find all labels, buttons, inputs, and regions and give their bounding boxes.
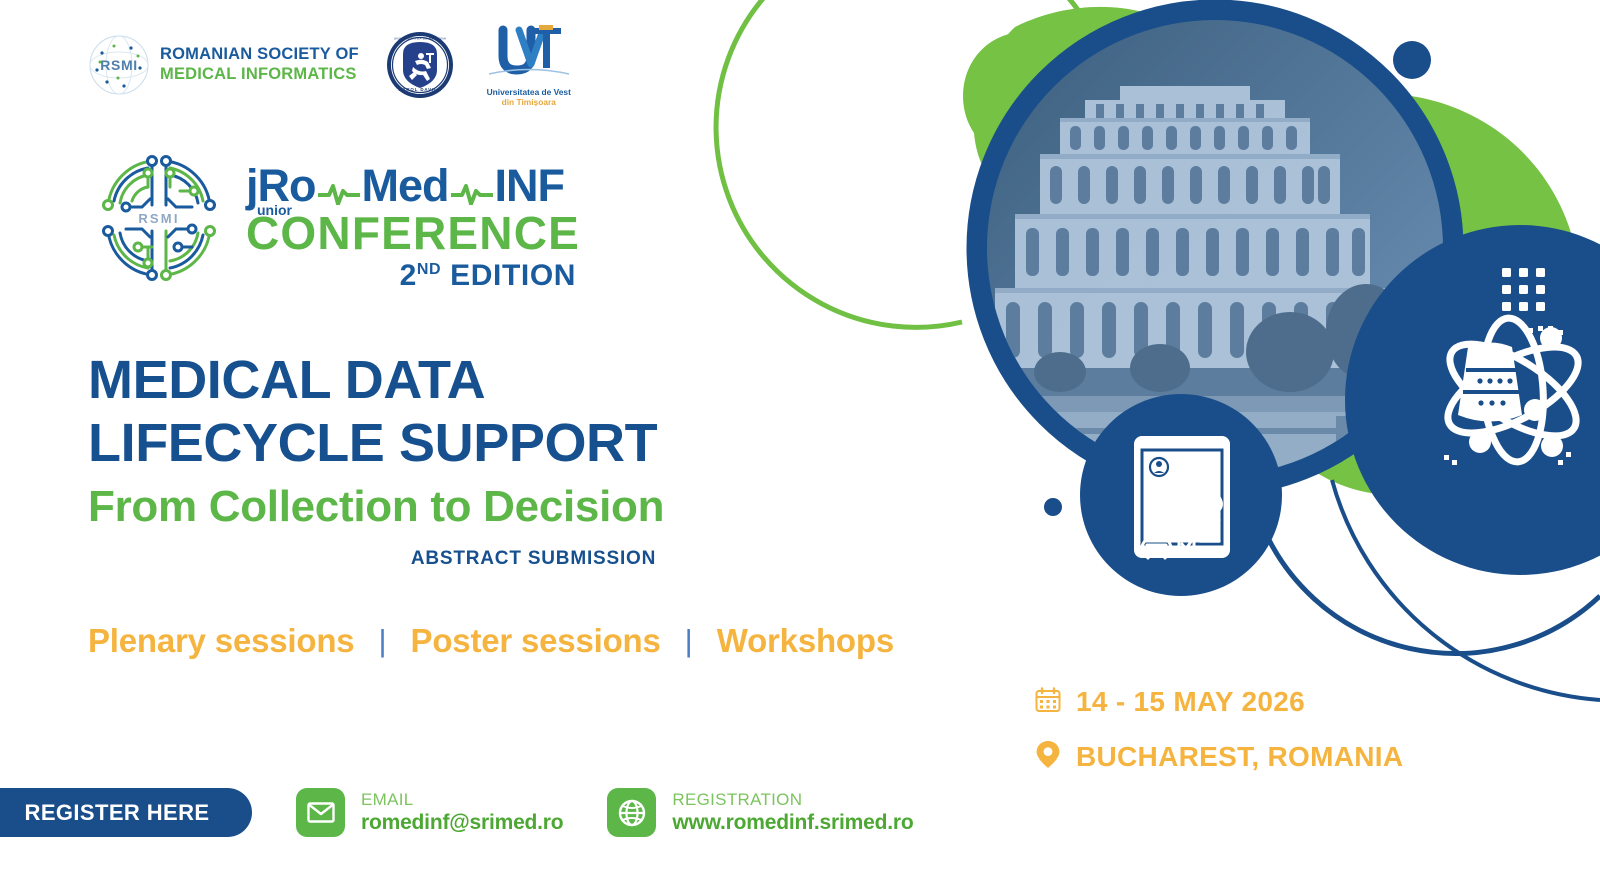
session-plenary: Plenary sessions <box>88 622 354 660</box>
conference-title-inf: INF <box>495 160 565 211</box>
uvt-caption: Universitatea de Vest din Timișoara <box>481 87 577 108</box>
conference-word: CONFERENCE <box>246 210 580 257</box>
sponsor-logo-row: RSMI ROMANIAN SOCIETY OF MEDICAL INFORMA… <box>88 22 577 108</box>
conference-title-junior: unior <box>257 203 292 217</box>
event-location-row: BUCHAREST, ROMANIA <box>1035 740 1403 774</box>
conference-title-j: j <box>246 160 258 211</box>
svg-text:CAROL DAVILA: CAROL DAVILA <box>398 87 442 92</box>
registration-label: REGISTRATION <box>672 789 913 810</box>
edition-number: 2 <box>400 259 417 292</box>
heartbeat-pulse-icon-2 <box>451 167 493 212</box>
email-label: EMAIL <box>361 789 563 810</box>
abstract-submission-label: ABSTRACT SUBMISSION <box>88 548 664 570</box>
atom-science-icon <box>1435 316 1590 464</box>
register-here-button[interactable]: REGISTER HERE <box>0 788 252 837</box>
medical-record-form-icon <box>1134 436 1230 558</box>
calendar-icon <box>1035 687 1061 718</box>
network-globe-icon: RSMI <box>88 34 150 96</box>
svg-text:RSMI: RSMI <box>138 211 179 226</box>
university-seal-icon: CAROL DAVILA UNIVERSITATEA DE MEDICINA <box>385 30 455 100</box>
session-types-row: Plenary sessions | Poster sessions | Wor… <box>88 622 894 660</box>
event-location: BUCHAREST, ROMANIA <box>1076 741 1403 773</box>
headline-subtitle: From Collection to Decision <box>88 483 664 531</box>
edition-suffix: ND <box>417 261 441 278</box>
svg-text:RSMI: RSMI <box>100 57 137 73</box>
edition-word: EDITION <box>450 259 576 292</box>
event-meta-block: 14 - 15 MAY 2026 BUCHAREST, ROMANIA <box>1035 686 1403 796</box>
circuit-board-icon: RSMI <box>90 143 228 293</box>
conference-edition: 2ND EDITION <box>246 259 580 293</box>
bottom-contact-bar: REGISTER HERE EMAIL romedinf@srimed.ro R… <box>0 788 913 837</box>
contact-email[interactable]: EMAIL romedinf@srimed.ro <box>296 788 563 837</box>
uvt-monogram-icon <box>481 67 577 84</box>
event-date: 14 - 15 MAY 2026 <box>1076 686 1305 718</box>
heartbeat-pulse-icon <box>318 167 360 212</box>
headline-line2: LIFECYCLE SUPPORT <box>88 412 664 475</box>
headline-block: MEDICAL DATA LIFECYCLE SUPPORT From Coll… <box>88 349 664 570</box>
uvt-line1: Universitatea de Vest <box>481 87 577 97</box>
sponsor-rsmi-text: ROMANIAN SOCIETY OF MEDICAL INFORMATICS <box>160 45 359 84</box>
headline-line1: MEDICAL DATA <box>88 349 664 412</box>
conference-title-row: jRo unior MedINF <box>246 163 580 212</box>
dot-grid-icon <box>1502 268 1545 311</box>
uvt-line2: din Timișoara <box>481 97 577 107</box>
session-divider-1: | <box>378 623 386 659</box>
session-divider-2: | <box>685 623 693 659</box>
registration-value[interactable]: www.romedinf.srimed.ro <box>672 810 913 836</box>
rsmi-line2: MEDICAL INFORMATICS <box>160 65 359 84</box>
conference-title-med: Med <box>362 160 449 211</box>
conference-wordmark: jRo unior MedINF CONFERENCE 2ND EDITION <box>246 143 580 293</box>
map-pin-icon <box>1035 740 1061 774</box>
session-poster: Poster sessions <box>411 622 661 660</box>
envelope-icon <box>296 788 345 837</box>
session-workshops: Workshops <box>717 622 894 660</box>
event-date-row: 14 - 15 MAY 2026 <box>1035 686 1403 718</box>
rsmi-line1: ROMANIAN SOCIETY OF <box>160 45 359 64</box>
email-value[interactable]: romedinf@srimed.ro <box>361 810 563 836</box>
svg-text:UNIVERSITATEA DE MEDICINA: UNIVERSITATEA DE MEDICINA <box>393 36 446 40</box>
sponsor-logo-rsmi: RSMI ROMANIAN SOCIETY OF MEDICAL INFORMA… <box>88 34 359 96</box>
conference-logo-block: RSMI jRo unior MedINF CONFERENCE 2ND EDI… <box>90 143 580 293</box>
globe-icon <box>607 788 656 837</box>
sponsor-logo-uvt: Universitatea de Vest din Timișoara <box>481 22 577 108</box>
contact-registration[interactable]: REGISTRATION www.romedinf.srimed.ro <box>607 788 913 837</box>
